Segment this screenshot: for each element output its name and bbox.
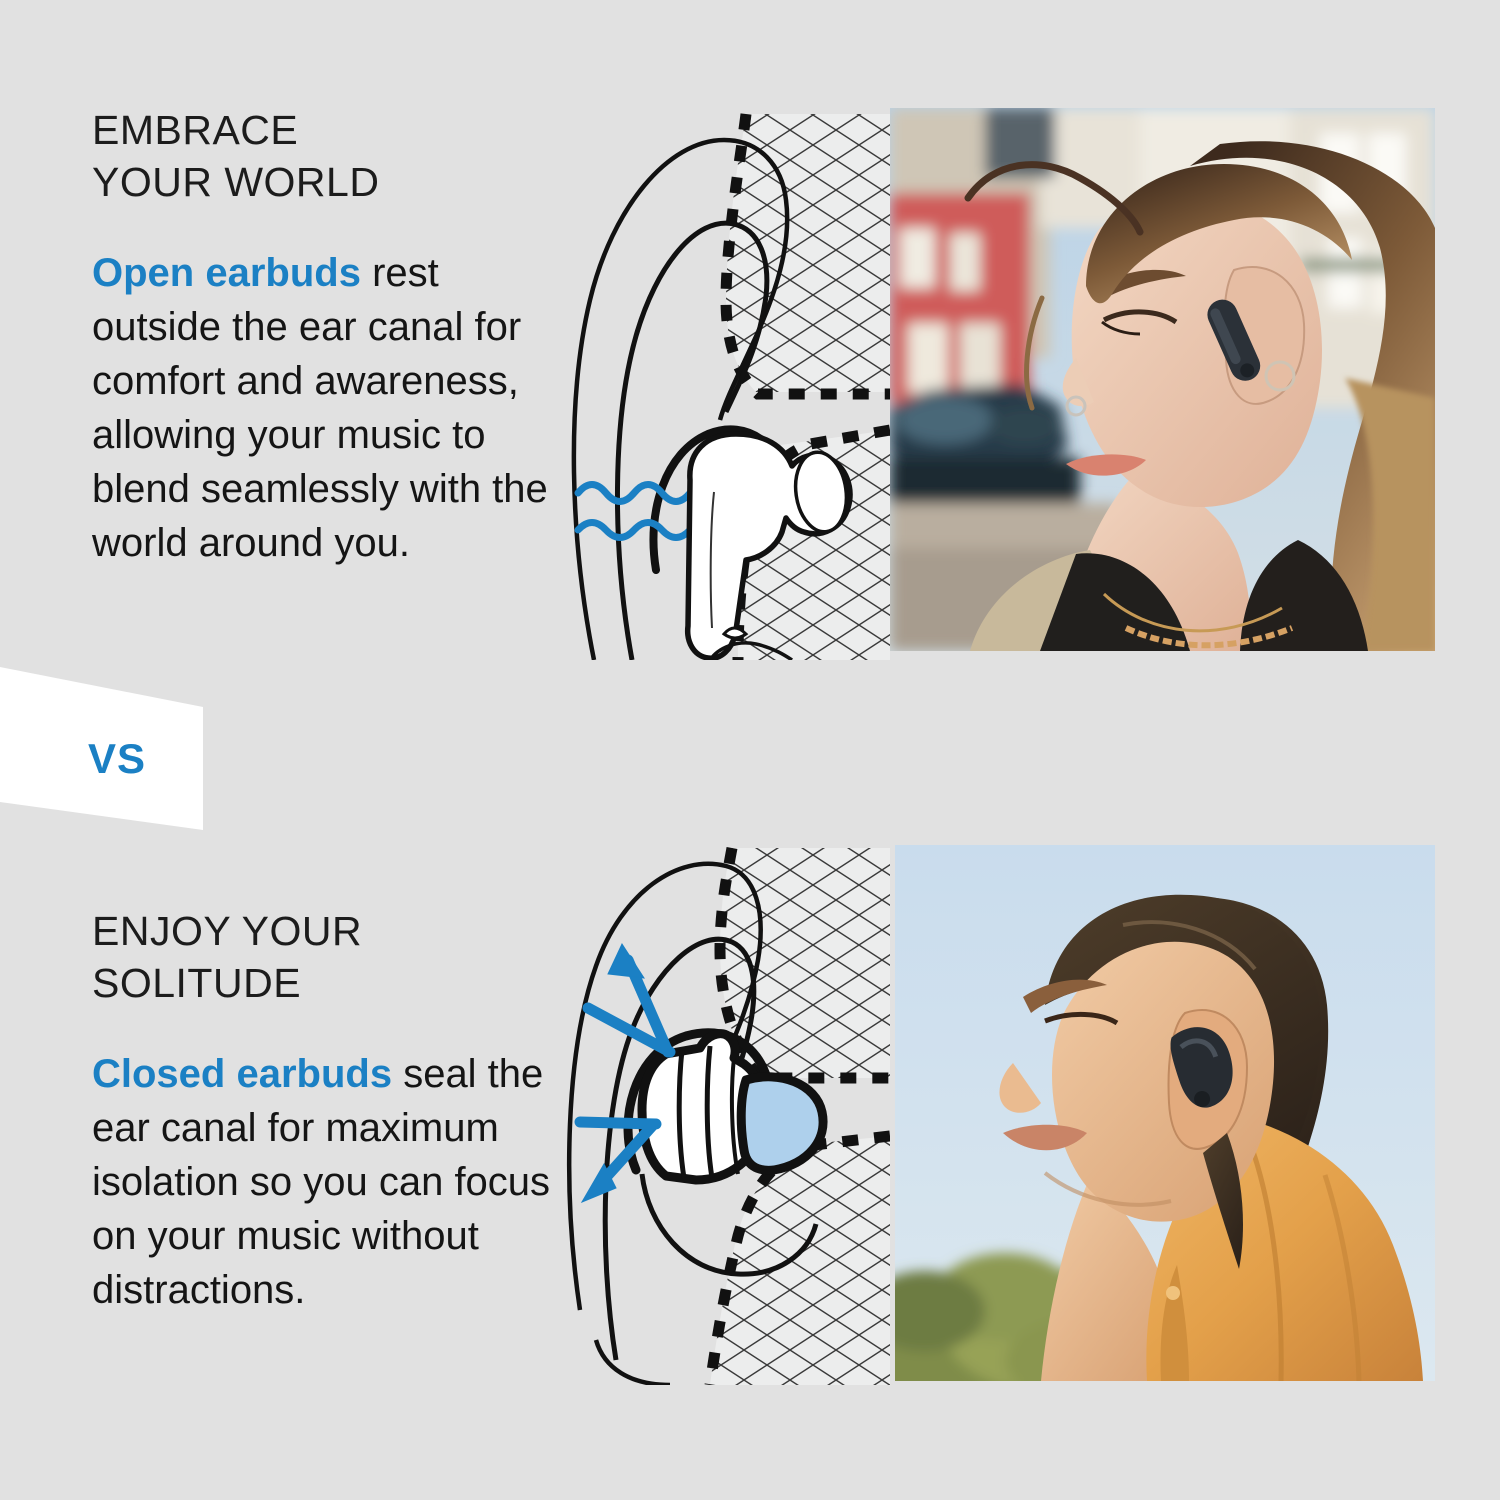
open-earbud-diagram xyxy=(560,100,890,660)
closed-earbuds-lifestyle-photo xyxy=(895,845,1435,1381)
vs-label: VS xyxy=(88,735,146,783)
open-earbuds-copy-block: EMBRACE YOUR WORLD Open earbuds rest out… xyxy=(92,104,562,570)
arrow-upper-head xyxy=(608,944,644,978)
open-earbuds-lifestyle-photo xyxy=(890,108,1435,651)
photo-shirt-button xyxy=(1166,1286,1180,1300)
ear-lower-outline xyxy=(596,1340,670,1385)
infographic-page: EMBRACE YOUR WORLD Open earbuds rest out… xyxy=(0,0,1500,1500)
open-body-paragraph: Open earbuds rest outside the ear canal … xyxy=(92,246,562,570)
open-highlight-term: Open earbuds xyxy=(92,251,361,295)
open-eyebrow-heading: EMBRACE YOUR WORLD xyxy=(92,104,562,208)
closed-body-paragraph: Closed earbuds seal the ear canal for ma… xyxy=(92,1047,562,1317)
closed-earbuds-copy-block: ENJOY YOUR SOLITUDE Closed earbuds seal … xyxy=(92,905,562,1317)
earbud-mic-port xyxy=(724,628,746,638)
arrow-lower-incoming xyxy=(580,1122,656,1124)
open-body-text: rest outside the ear canal for comfort a… xyxy=(92,251,548,565)
closed-highlight-term: Closed earbuds xyxy=(92,1052,392,1096)
earbud-silicone-ear-tip xyxy=(741,1077,823,1171)
closed-eyebrow-heading: ENJOY YOUR SOLITUDE xyxy=(92,905,562,1009)
closed-earbud-diagram xyxy=(560,840,890,1385)
